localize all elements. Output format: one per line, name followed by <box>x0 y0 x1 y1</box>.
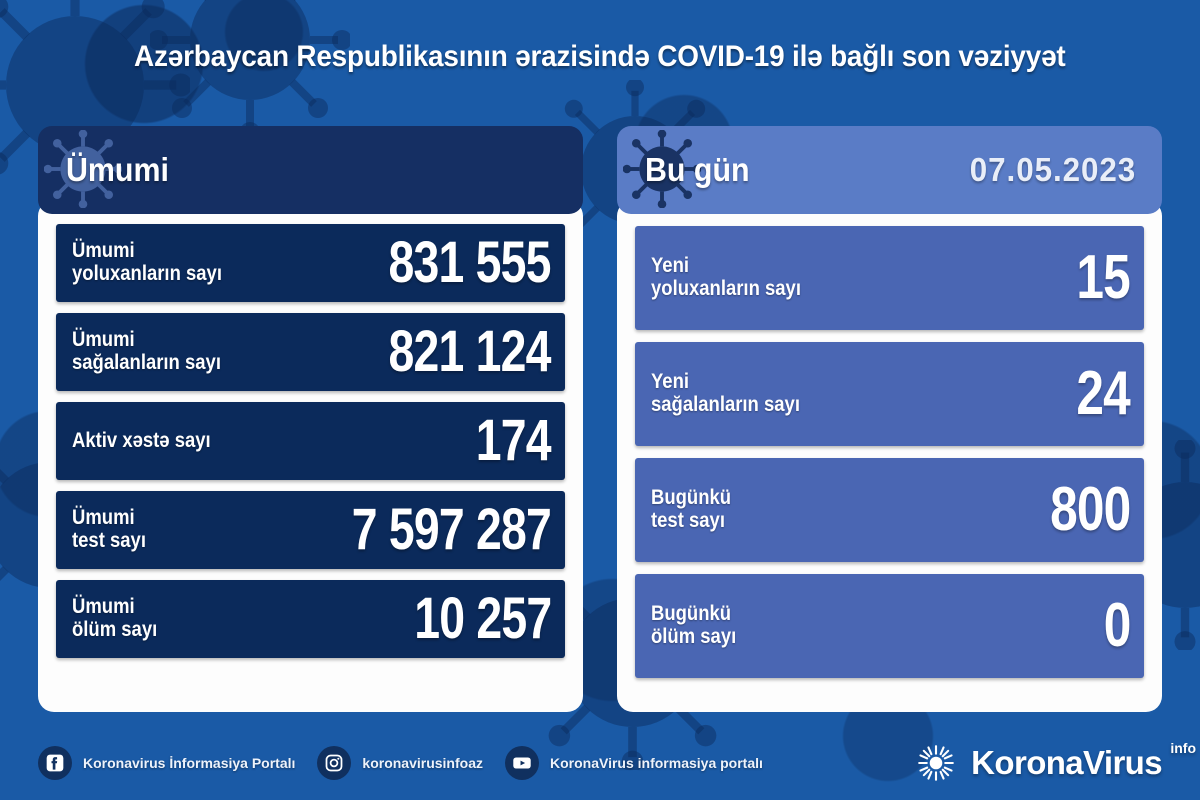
brand-suffix: info <box>1170 740 1196 756</box>
social-link-instagram[interactable]: koronavirusinfoaz <box>317 746 483 780</box>
stat-label: Bugünkü test sayı <box>651 487 731 532</box>
stat-row: Bugünkü test sayı 800 <box>635 458 1144 562</box>
social-label-instagram: koronavirusinfoaz <box>362 755 483 771</box>
stat-row: Ümumi yoluxanların sayı 831 555 <box>56 224 565 302</box>
panel-today-date: 07.05.2023 <box>970 151 1136 189</box>
stat-label: Yeni sağalanların sayı <box>651 371 800 416</box>
brand-logo[interactable]: KoronaVirus info <box>915 742 1178 784</box>
stat-value: 174 <box>476 412 551 470</box>
stat-value: 831 555 <box>389 234 551 292</box>
stat-value: 800 <box>1050 479 1130 541</box>
social-link-facebook[interactable]: Koronavirus İnformasiya Portalı <box>38 746 295 780</box>
stat-value: 24 <box>1076 363 1130 425</box>
stat-row: Ümumi sağalanların sayı 821 124 <box>56 313 565 391</box>
brand-name: KoronaVirus info <box>971 744 1162 782</box>
stat-label: Bugünkü ölüm sayı <box>651 603 736 648</box>
stat-label: Yeni yoluxanların sayı <box>651 255 801 300</box>
brand-name-text: KoronaVirus <box>971 744 1162 781</box>
stat-value: 15 <box>1076 247 1130 309</box>
social-links: Koronavirus İnformasiya Portalı koronavi… <box>38 746 915 780</box>
stat-value: 10 257 <box>414 590 551 648</box>
panel-total: Ümumi Ümumi yoluxanların sayı 831 555 Üm… <box>38 126 583 712</box>
stat-label: Ümumi sağalanların sayı <box>72 329 221 374</box>
stat-label: Aktiv xəstə sayı <box>72 430 211 453</box>
stat-row: Ümumi ölüm sayı 10 257 <box>56 580 565 658</box>
panel-total-title: Ümumi <box>66 151 169 189</box>
stat-label: Ümumi yoluxanların sayı <box>72 240 222 285</box>
stat-label: Ümumi test sayı <box>72 507 146 552</box>
stat-value: 7 597 287 <box>352 501 551 559</box>
social-label-facebook: Koronavirus İnformasiya Portalı <box>83 755 295 771</box>
stat-value: 821 124 <box>389 323 551 381</box>
panel-today-body: Yeni yoluxanların sayı 15 Yeni sağalanla… <box>617 200 1162 712</box>
stat-row: Aktiv xəstə sayı 174 <box>56 402 565 480</box>
stat-row: Bugünkü ölüm sayı 0 <box>635 574 1144 678</box>
stat-label: Ümumi ölüm sayı <box>72 596 157 641</box>
poster-title-bar: Azərbaycan Respublikasının ərazisində CO… <box>0 40 1200 74</box>
facebook-icon[interactable] <box>38 746 72 780</box>
virus-sun-icon <box>915 742 957 784</box>
social-link-youtube[interactable]: KoronaVirus informasiya portalı <box>505 746 763 780</box>
social-label-youtube: KoronaVirus informasiya portalı <box>550 755 763 771</box>
poster-canvas: Azərbaycan Respublikasının ərazisində CO… <box>0 0 1200 800</box>
footer: Koronavirus İnformasiya Portalı koronavi… <box>0 726 1200 800</box>
stat-row: Yeni sağalanların sayı 24 <box>635 342 1144 446</box>
panel-today-header: Bu gün 07.05.2023 <box>617 126 1162 214</box>
page-title: Azərbaycan Respublikasının ərazisində CO… <box>134 40 1065 74</box>
panel-today: Bu gün 07.05.2023 Yeni yoluxanların sayı… <box>617 126 1162 712</box>
panel-total-body: Ümumi yoluxanların sayı 831 555 Ümumi sa… <box>38 200 583 712</box>
panel-total-header: Ümumi <box>38 126 583 214</box>
stat-row: Yeni yoluxanların sayı 15 <box>635 226 1144 330</box>
panel-today-title: Bu gün <box>645 151 750 189</box>
stat-row: Ümumi test sayı 7 597 287 <box>56 491 565 569</box>
stat-value: 0 <box>1103 595 1130 657</box>
youtube-icon[interactable] <box>505 746 539 780</box>
instagram-icon[interactable] <box>317 746 351 780</box>
